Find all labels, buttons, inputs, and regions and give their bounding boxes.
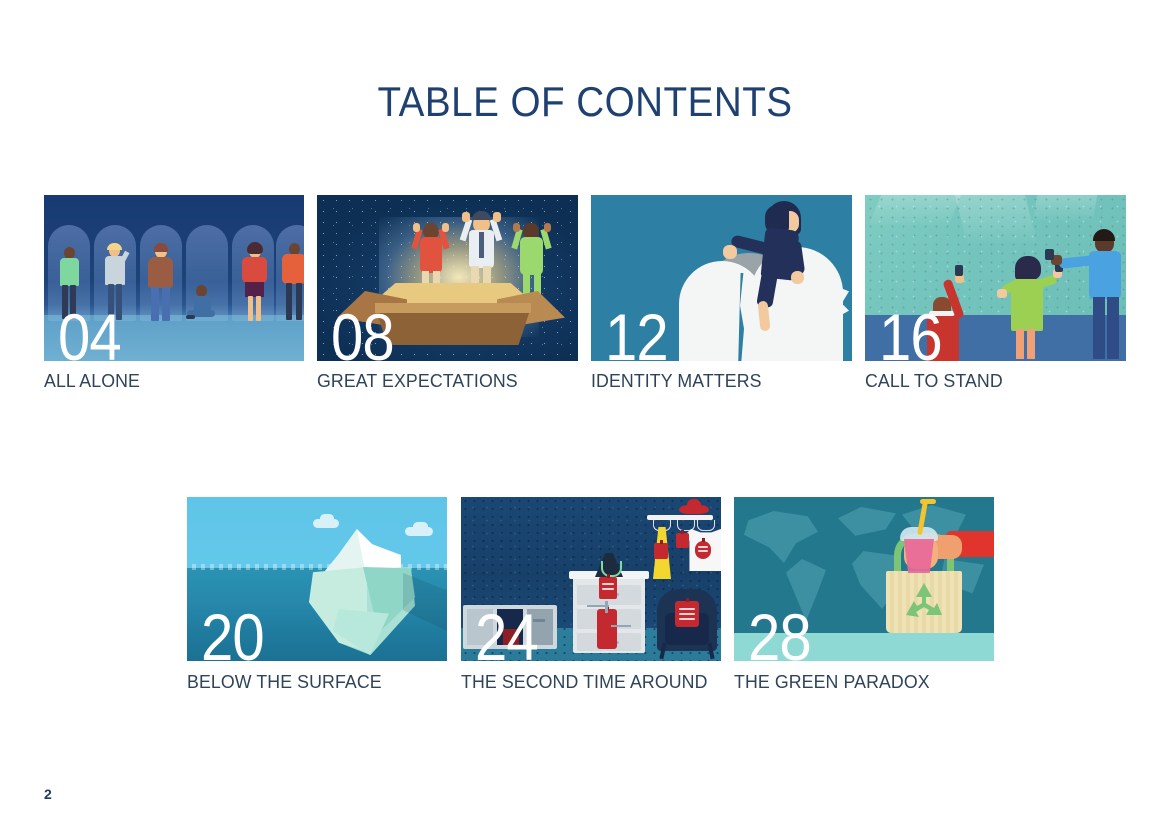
toc-card-great-expectations[interactable]: 08 (317, 195, 578, 361)
toc-thumbnail-the-green-paradox (734, 497, 994, 661)
recycle-icon (902, 581, 946, 623)
toc-card-the-green-paradox[interactable]: 28 (734, 497, 994, 661)
toc-label-the-green-paradox[interactable]: THE GREEN PARADOX (734, 671, 930, 693)
toc-label-call-to-stand[interactable]: CALL TO STAND (865, 370, 1003, 392)
toc-label-below-the-surface[interactable]: BELOW THE SURFACE (187, 671, 382, 693)
toc-label-great-expectations[interactable]: GREAT EXPECTATIONS (317, 370, 518, 392)
toc-label-all-alone[interactable]: ALL ALONE (44, 370, 140, 392)
toc-card-the-second-time-around[interactable]: 24 (461, 497, 721, 661)
toc-thumbnail-below-the-surface (187, 497, 447, 661)
page-number: 2 (44, 786, 52, 802)
toc-thumbnail-great-expectations (317, 195, 578, 361)
toc-thumbnail-call-to-stand (865, 195, 1126, 361)
toc-card-call-to-stand[interactable]: 16 (865, 195, 1126, 361)
toc-label-identity-matters[interactable]: IDENTITY MATTERS (591, 370, 762, 392)
toc-card-identity-matters[interactable]: 12 (591, 195, 852, 361)
toc-label-the-second-time-around[interactable]: THE SECOND TIME AROUND (461, 671, 708, 693)
toc-thumbnail-all-alone (44, 195, 304, 361)
toc-thumbnail-identity-matters (591, 195, 852, 361)
toc-card-all-alone[interactable]: 04 (44, 195, 304, 361)
page-title: TABLE OF CONTENTS (47, 78, 1123, 126)
toc-thumbnail-the-second-time-around (461, 497, 721, 661)
toc-card-below-the-surface[interactable]: 20 (187, 497, 447, 661)
